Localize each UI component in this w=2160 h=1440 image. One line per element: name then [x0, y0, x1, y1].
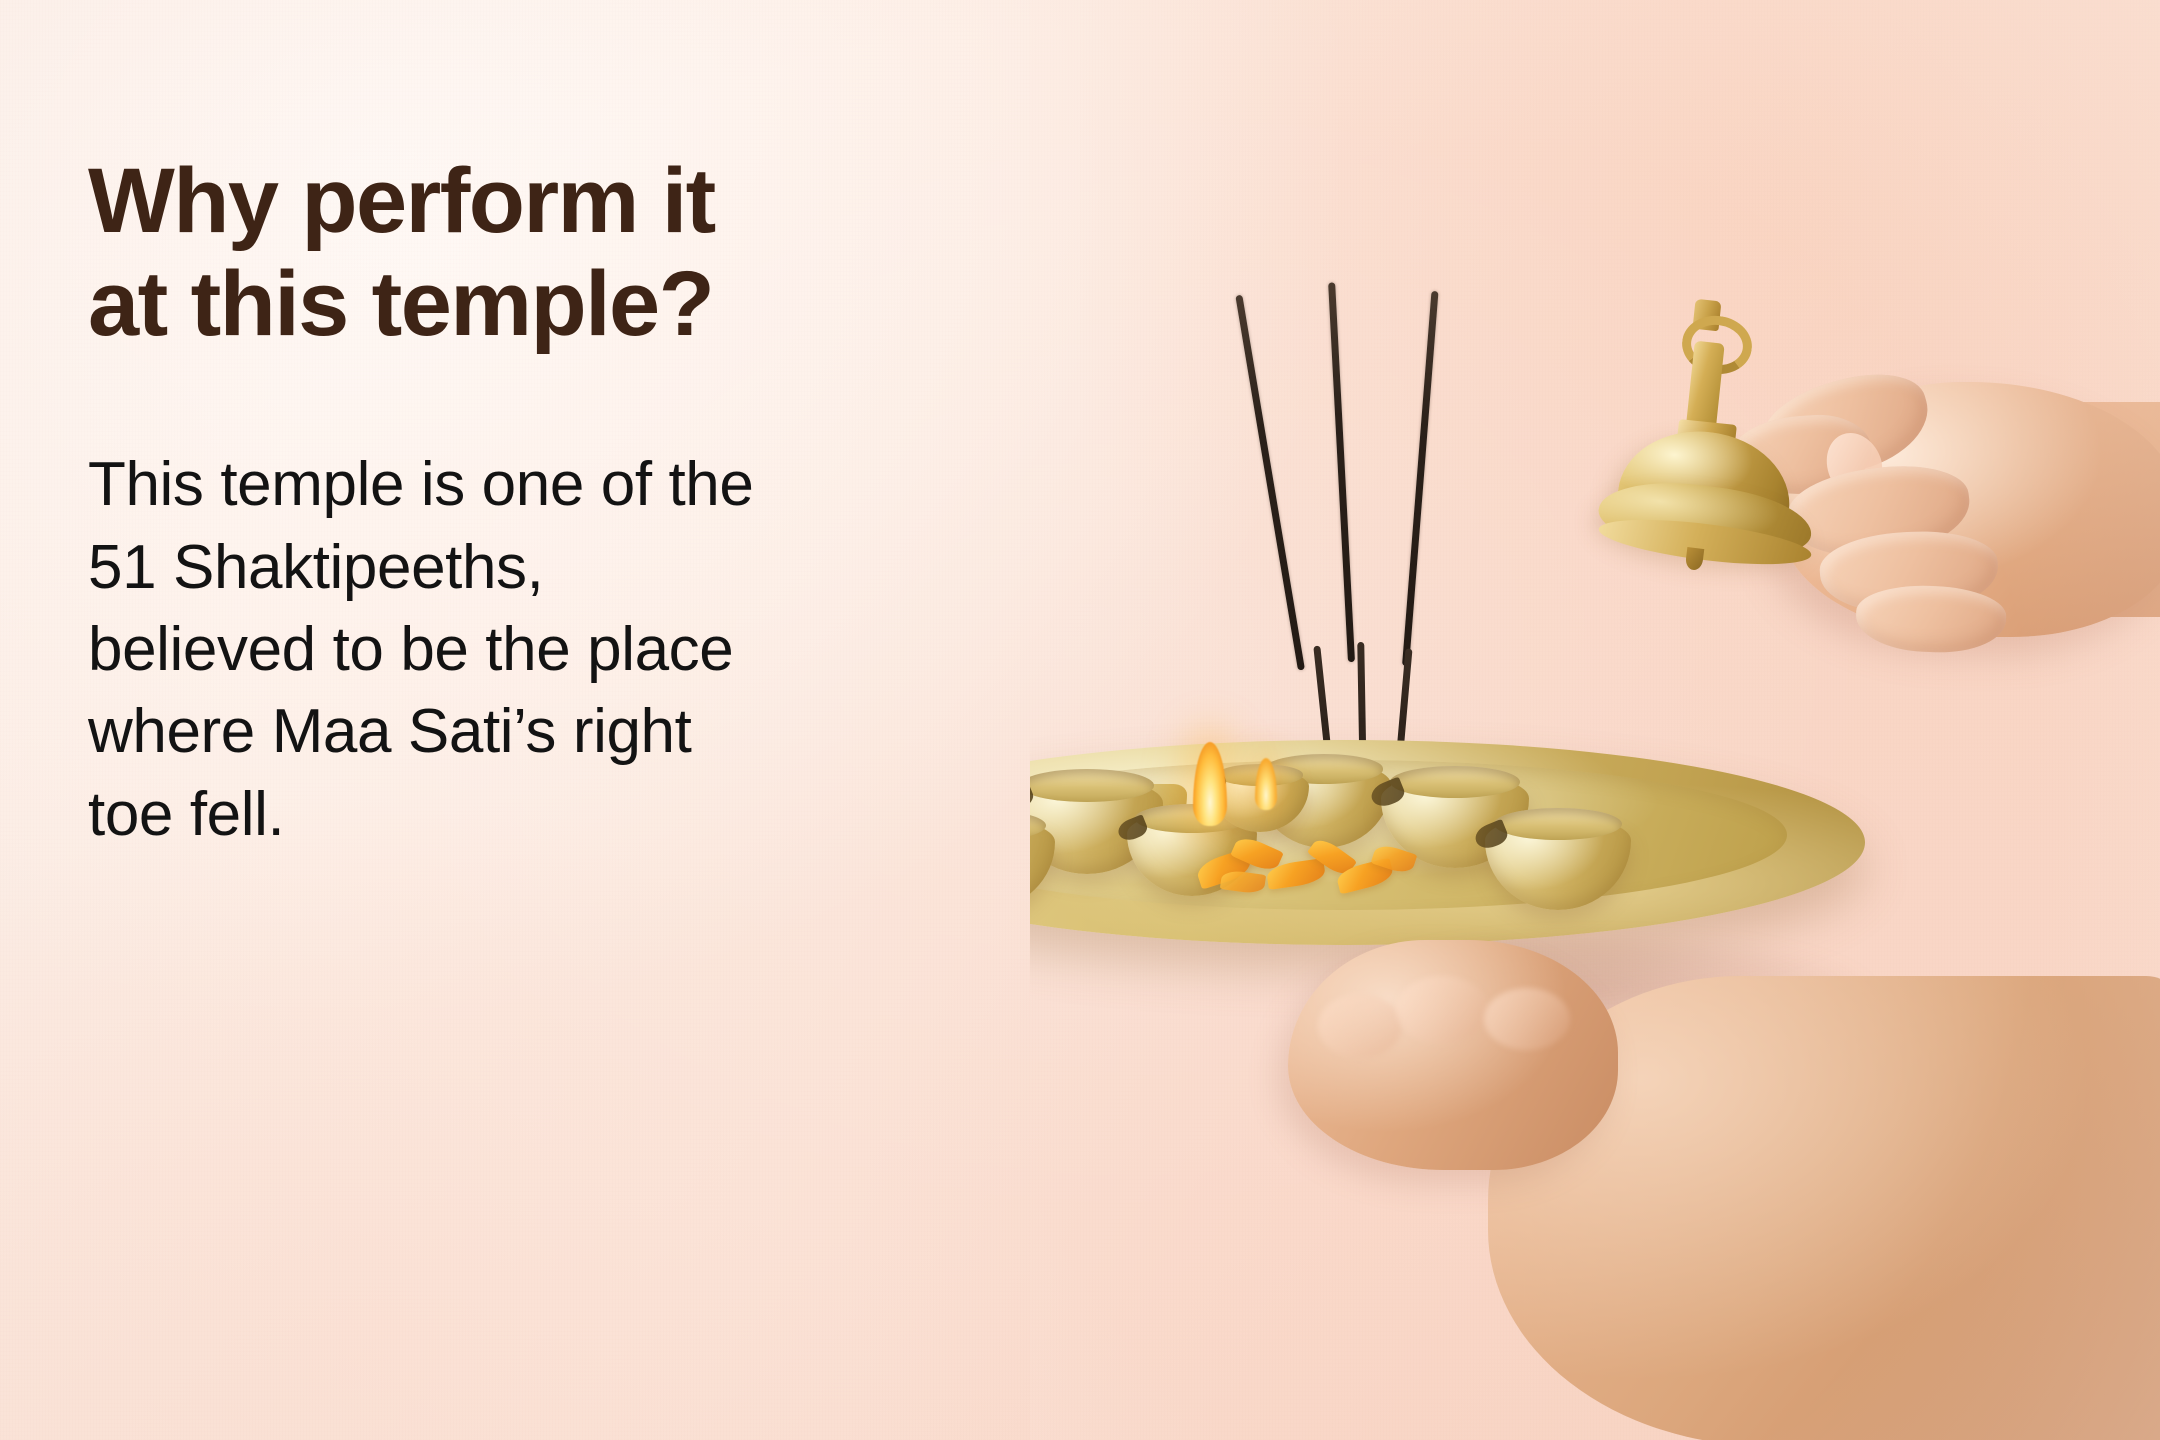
supporting-palm [1288, 940, 1618, 1170]
slide-canvas: Why perform it at this temple? This temp… [0, 0, 2160, 1440]
knuckle [1484, 988, 1570, 1050]
incense-stick-icon [1402, 291, 1438, 666]
puja-photo [1030, 0, 2160, 1440]
page-title: Why perform it at this temple? [88, 150, 1008, 356]
incense-stick-icon [1328, 282, 1355, 662]
knuckle [1396, 976, 1488, 1044]
text-column: Why perform it at this temple? This temp… [88, 150, 1008, 856]
hand-holding-thali [1288, 940, 2160, 1440]
marigold-petals [1197, 836, 1427, 906]
knuckle [1318, 994, 1402, 1058]
brass-bell-icon [1590, 300, 1820, 550]
incense-stick-icon [1235, 295, 1305, 671]
petal [1220, 869, 1266, 895]
body-paragraph: This temple is one of the 51 Shaktipeeth… [88, 444, 988, 856]
